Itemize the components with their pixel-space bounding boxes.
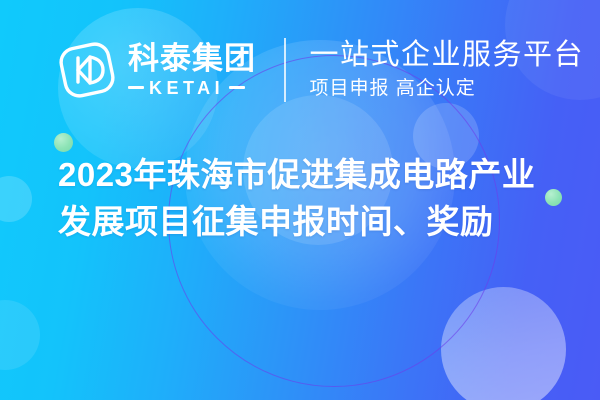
banner-title-area: 2023年珠海市促进集成电路产业发展项目征集申报时间、奖励 bbox=[58, 152, 558, 246]
dash-left-icon bbox=[128, 86, 144, 89]
banner-header: 科泰集团 KETAI 一站式企业服务平台 项目申报 高企认定 bbox=[0, 0, 600, 140]
brand-logo[interactable]: 科泰集团 KETAI bbox=[56, 39, 256, 101]
dash-right-icon bbox=[229, 86, 245, 89]
decor-circle-left-edge bbox=[0, 176, 32, 222]
tagline-main: 一站式企业服务平台 bbox=[310, 39, 585, 72]
header-tagline: 一站式企业服务平台 项目申报 高企认定 bbox=[310, 39, 585, 101]
promo-banner: 科泰集团 KETAI 一站式企业服务平台 项目申报 高企认定 2023年珠海市促… bbox=[0, 0, 600, 400]
brand-wordmark: 科泰集团 KETAI bbox=[128, 43, 256, 97]
brand-name-cn: 科泰集团 bbox=[128, 43, 256, 76]
brand-name-en-row: KETAI bbox=[128, 79, 256, 97]
brand-name-en: KETAI bbox=[149, 79, 224, 97]
tagline-sub: 项目申报 高企认定 bbox=[310, 78, 585, 101]
header-divider bbox=[284, 38, 286, 102]
decor-circle-bottom-left bbox=[0, 300, 40, 370]
decor-circle-bottom-right bbox=[441, 287, 566, 400]
ketai-kd-monogram-icon bbox=[56, 39, 118, 101]
page-title: 2023年珠海市促进集成电路产业发展项目征集申报时间、奖励 bbox=[58, 152, 558, 246]
